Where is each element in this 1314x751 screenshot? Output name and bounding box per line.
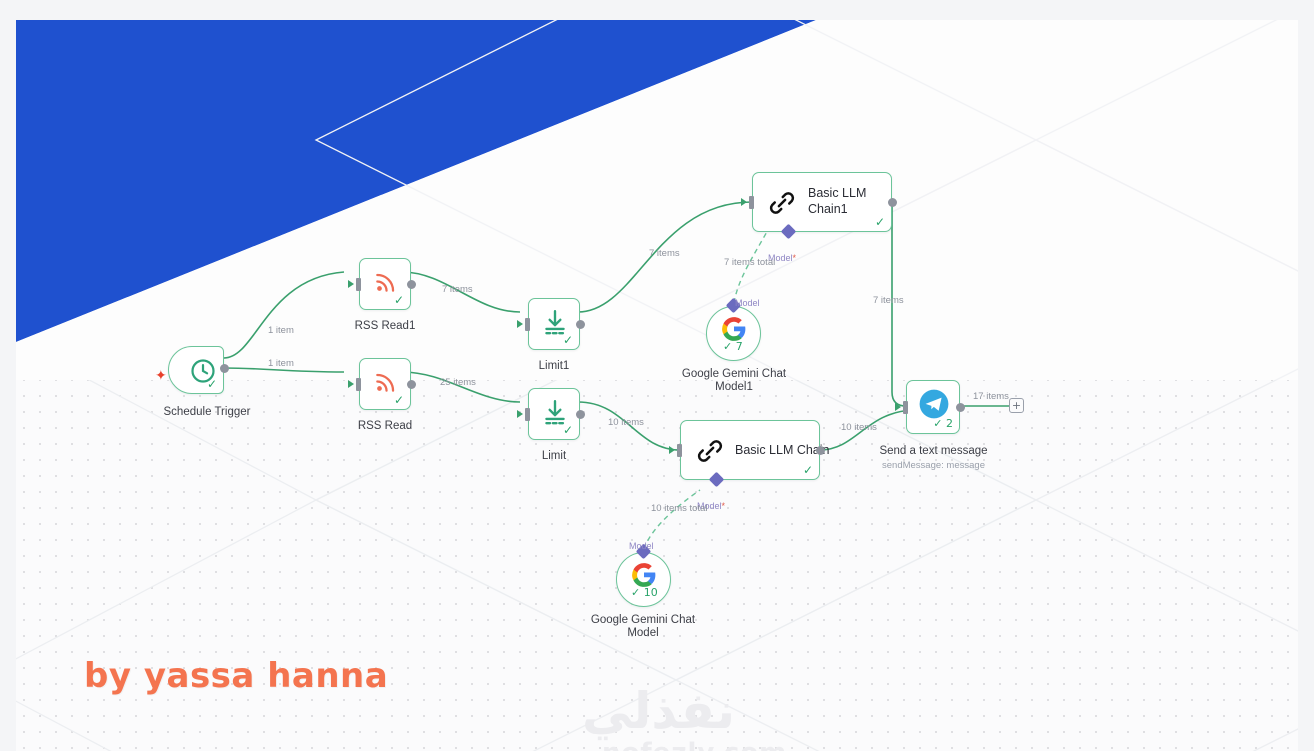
node-schedule-trigger[interactable]: ✓: [168, 346, 224, 394]
node-basic-llm-chain1[interactable]: Basic LLM Chain1 ✓: [752, 172, 892, 232]
edge-label-trigger-to-rss: 1 item: [268, 358, 294, 369]
output-port[interactable]: [816, 446, 825, 455]
node-label-rss-read1: RSS Read1: [319, 320, 451, 333]
edge-label-gemini1-total: 7 items total: [724, 257, 775, 268]
input-arrow-icon: [517, 410, 523, 418]
port-required-mark: *: [722, 501, 726, 511]
node-status-check: ✓: [563, 334, 573, 346]
edge-label-telegram-out: 17 items: [973, 391, 1009, 402]
edge-label-rss1-to-limit1: 7 items: [442, 284, 473, 295]
input-port[interactable]: [677, 444, 682, 457]
node-run-count-badge: ✓ 10: [631, 586, 658, 599]
node-label-limit: Limit: [488, 450, 620, 463]
rss-icon: [373, 269, 399, 295]
watermark-arabic: نفذلي: [582, 682, 735, 740]
telegram-icon: [918, 388, 950, 420]
trigger-bolt-icon: ✦: [155, 368, 167, 382]
edge-label-trigger-to-rss1: 1 item: [268, 325, 294, 336]
node-rss-read[interactable]: ✓: [359, 358, 411, 410]
port-label-model-gemini: Model: [629, 541, 654, 551]
add-node-button[interactable]: +: [1009, 398, 1024, 413]
input-port[interactable]: [356, 278, 361, 291]
input-arrow-icon: [517, 320, 523, 328]
input-port[interactable]: [525, 318, 530, 331]
watermark-latin: nofezly.com: [602, 738, 787, 751]
node-title-basic-llm-chain1: Basic LLM Chain1: [808, 185, 891, 217]
edge-label-rss-to-limit: 25 items: [440, 377, 476, 388]
edge-label-gemini-total: 10 items total: [651, 503, 708, 514]
google-g-icon: [721, 316, 747, 342]
input-arrow-icon: [669, 446, 675, 454]
node-basic-llm-chain[interactable]: Basic LLM Chain ✓: [680, 420, 820, 480]
workflow-canvas[interactable]: ✓ ✦ Schedule Trigger ✓ RSS Read1: [16, 20, 1298, 751]
node-status-check: ✓: [563, 424, 573, 436]
input-port[interactable]: [903, 401, 908, 414]
node-label-rss-read: RSS Read: [319, 420, 451, 433]
port-label-model-gemini1: Model: [735, 298, 760, 308]
rss-icon: [373, 369, 399, 395]
node-run-count-badge: ✓ 2: [933, 417, 953, 430]
node-status-check: ✓: [207, 378, 217, 390]
node-limit1[interactable]: ✓: [528, 298, 580, 350]
input-arrow-icon: [348, 380, 354, 388]
byline-watermark: by yassa hanna: [84, 656, 388, 696]
node-status-check: ✓: [394, 394, 404, 406]
chain-link-icon: [767, 188, 797, 218]
input-arrow-icon: [348, 280, 354, 288]
node-limit[interactable]: ✓: [528, 388, 580, 440]
node-label-gemini: Google Gemini Chat Model: [578, 614, 708, 640]
port-required-mark: *: [793, 253, 797, 263]
node-status-check: ✓: [803, 464, 813, 476]
output-port[interactable]: [576, 320, 585, 329]
screenshot-root: ✓ ✦ Schedule Trigger ✓ RSS Read1: [0, 0, 1314, 751]
google-g-icon: [631, 562, 657, 588]
output-port[interactable]: [576, 410, 585, 419]
input-port[interactable]: [356, 378, 361, 391]
edge-label-chain1-to-telegram: 7 items: [873, 295, 904, 306]
edge-label-limit1-to-chain1: 7 items: [649, 248, 680, 259]
output-port[interactable]: [407, 280, 416, 289]
node-status-check: ✓: [394, 294, 404, 306]
node-send-a-text-message[interactable]: ✓ 2: [906, 380, 960, 434]
node-status-check: ✓: [875, 216, 885, 228]
chain-link-icon: [695, 436, 725, 466]
output-port[interactable]: [956, 403, 965, 412]
output-port[interactable]: [888, 198, 897, 207]
node-rss-read1[interactable]: ✓: [359, 258, 411, 310]
input-arrow-icon: [895, 403, 901, 411]
node-google-gemini-chat-model[interactable]: ✓ 10: [616, 552, 671, 607]
input-port[interactable]: [749, 196, 754, 209]
node-run-count-badge: ✓ 7: [723, 340, 743, 353]
node-label-gemini1: Google Gemini Chat Model1: [664, 368, 804, 394]
input-arrow-icon: [741, 198, 747, 206]
input-port[interactable]: [525, 408, 530, 421]
node-sublabel-send-a-text-message: sendMessage: message: [861, 460, 1006, 471]
node-label-limit1: Limit1: [488, 360, 620, 373]
edge-label-chain-to-telegram: 10 items: [841, 422, 877, 433]
node-label-send-a-text-message: Send a text message: [861, 445, 1006, 458]
edge-label-limit-to-chain: 10 items: [608, 417, 644, 428]
node-label-schedule-trigger: Schedule Trigger: [128, 406, 286, 419]
node-google-gemini-chat-model1[interactable]: ✓ 7: [706, 306, 761, 361]
output-port[interactable]: [220, 364, 229, 373]
output-port[interactable]: [407, 380, 416, 389]
